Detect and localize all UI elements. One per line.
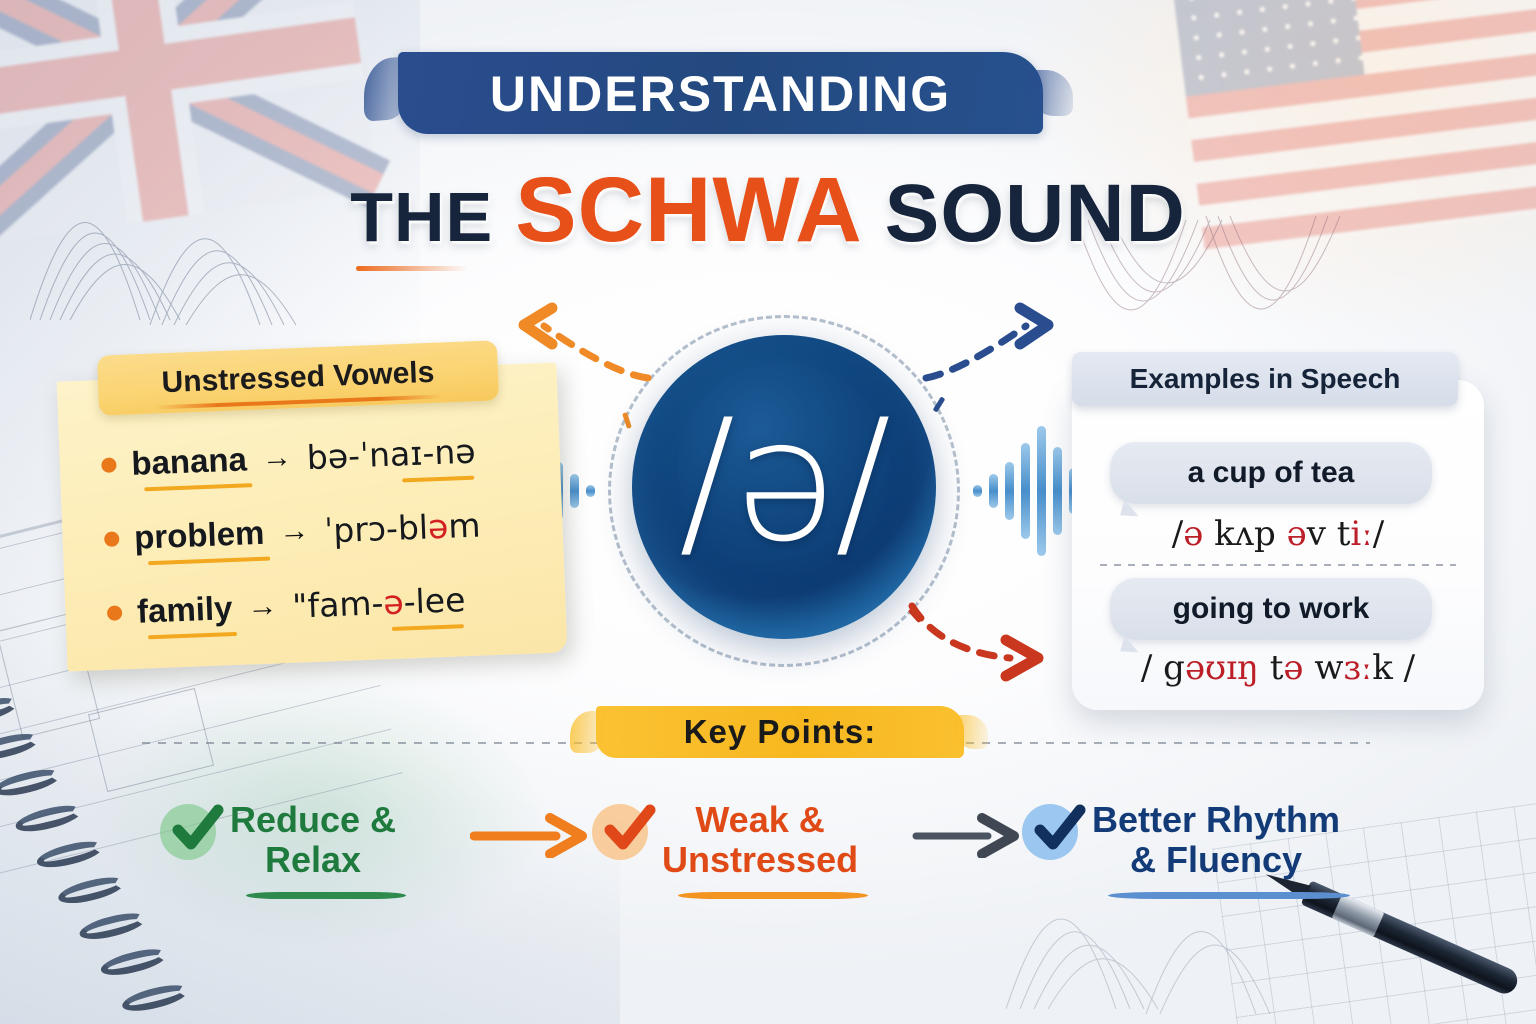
unstressed-vowels-list: banana → bə-ˈnaɪ-nə problem → ˈprɔ-bləm … xyxy=(100,410,578,650)
key-points-divider-right xyxy=(950,742,1370,744)
speech-phrase: a cup of tea xyxy=(1188,456,1355,490)
title-line-understanding: Understanding xyxy=(398,58,1043,130)
vowel-ipa: bə-ˈnaɪ-nə xyxy=(306,431,476,476)
unstressed-vowels-heading-text: Unstressed Vowels xyxy=(161,356,435,400)
speech-phonetics: / gəʊɪŋ tə wɜːk / xyxy=(1072,648,1484,688)
bullet-icon xyxy=(107,605,123,621)
examples-in-speech-card: a cup of tea /ə kʌp əv tiː/ going to wor… xyxy=(1072,380,1484,710)
key-point-arrow-orange xyxy=(470,812,590,858)
blue-check-icon xyxy=(1022,804,1078,860)
dashed-arrow-right-red xyxy=(898,596,1058,682)
title-word-sound: Sound xyxy=(885,167,1186,261)
green-check-icon xyxy=(160,804,216,860)
key-point-line1: Better Rhythm xyxy=(1092,800,1340,840)
key-point-line2: Unstressed xyxy=(662,840,858,880)
infographic-canvas: Understanding The Schwa Sound /ə/ xyxy=(0,0,1536,1024)
title-word-the: The xyxy=(350,177,493,257)
arrow-icon: → xyxy=(261,441,292,476)
schwa-circle: /ə/ xyxy=(632,335,936,639)
key-point-line1: Reduce & xyxy=(230,800,396,840)
vowel-word: family xyxy=(136,589,233,631)
key-point-text: Better Rhythm & Fluency xyxy=(1092,800,1340,881)
speech-bubble: going to work xyxy=(1110,578,1432,640)
key-point-weak-unstressed: Weak & Unstressed xyxy=(592,800,858,881)
dashed-arrow-right-blue xyxy=(916,300,1066,380)
title-word-schwa: Schwa xyxy=(515,158,862,263)
key-point-text: Weak & Unstressed xyxy=(662,800,858,881)
vowel-word: problem xyxy=(134,514,266,557)
examples-in-speech-heading: Examples in Speech xyxy=(1072,352,1458,406)
key-point-reduce-relax: Reduce & Relax xyxy=(160,800,396,881)
orange-check-icon xyxy=(592,804,648,860)
vowel-ipa: "fam-ə-lee xyxy=(292,580,466,626)
speech-phrase: going to work xyxy=(1173,592,1370,626)
card-divider xyxy=(1100,564,1456,566)
vowel-word: banana xyxy=(131,440,248,482)
examples-in-speech-heading-text: Examples in Speech xyxy=(1130,363,1401,395)
arrow-icon: → xyxy=(247,589,278,624)
bullet-icon xyxy=(101,457,117,473)
bullet-icon xyxy=(104,531,120,547)
speech-phonetics: /ə kʌp əv tiː/ xyxy=(1072,514,1484,554)
key-point-arrow-gray xyxy=(912,812,1022,858)
key-points-label: Key Points: xyxy=(596,708,964,756)
vowel-ipa: ˈprɔ-bləm xyxy=(324,505,482,550)
schwa-symbol-text: /ə/ xyxy=(679,397,890,565)
key-point-line2: & Fluency xyxy=(1092,840,1340,880)
page-title: The Schwa Sound xyxy=(0,158,1536,263)
key-point-line1: Weak & xyxy=(662,800,858,840)
key-point-line2: Relax xyxy=(230,840,396,880)
key-points-divider-left xyxy=(142,742,610,744)
key-point-better-rhythm: Better Rhythm & Fluency xyxy=(1022,800,1340,881)
speech-bubble: a cup of tea xyxy=(1110,442,1432,504)
key-point-text: Reduce & Relax xyxy=(230,800,396,881)
arrow-icon: → xyxy=(279,514,310,549)
